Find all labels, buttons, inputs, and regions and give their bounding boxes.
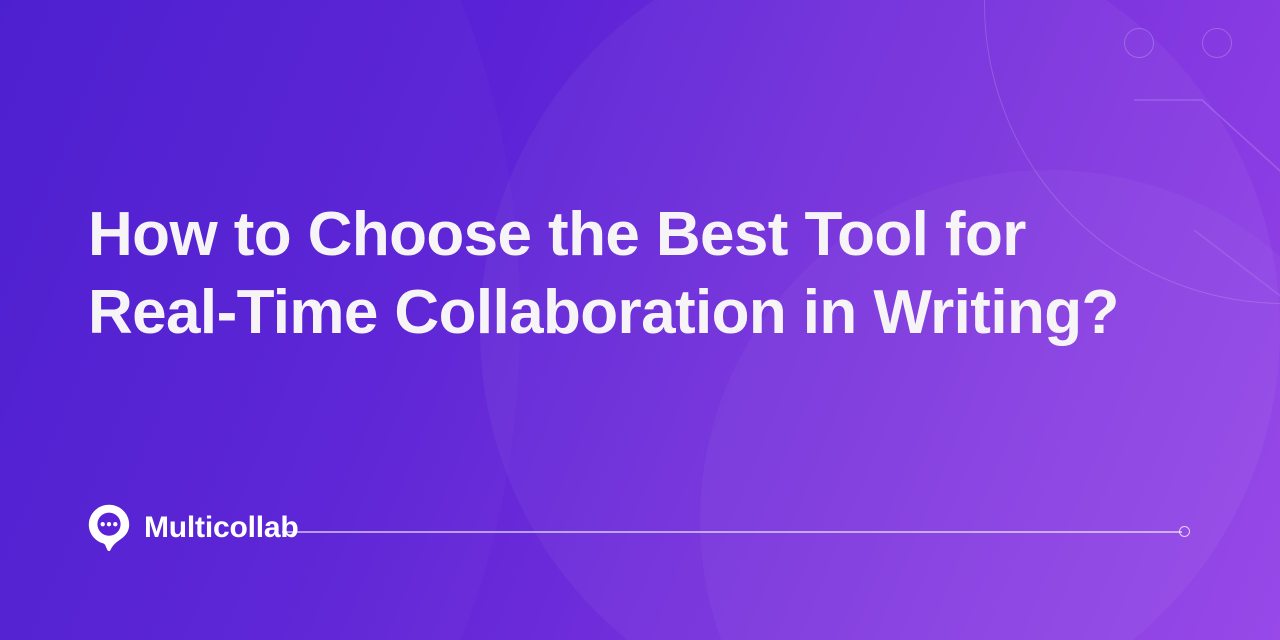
dot-ring-2-icon <box>1202 28 1232 58</box>
brand-name: Multicollab <box>144 513 298 543</box>
rule-end-dot-icon <box>1179 526 1190 537</box>
page-title-line-1: How to Choose the Best Tool for <box>88 196 1208 274</box>
divider-line <box>282 531 1182 533</box>
decorative-dot-row <box>1124 28 1280 58</box>
social-share-banner: How to Choose the Best Tool for Real-Tim… <box>0 0 1280 640</box>
page-title: How to Choose the Best Tool for Real-Tim… <box>88 196 1208 351</box>
brand-lockup: Multicollab <box>88 500 298 556</box>
dot-ring-1-icon <box>1124 28 1154 58</box>
divider <box>282 526 1190 538</box>
page-title-line-2: Real-Time Collaboration in Writing? <box>88 274 1208 352</box>
speech-bubble-dots-icon <box>88 504 130 552</box>
